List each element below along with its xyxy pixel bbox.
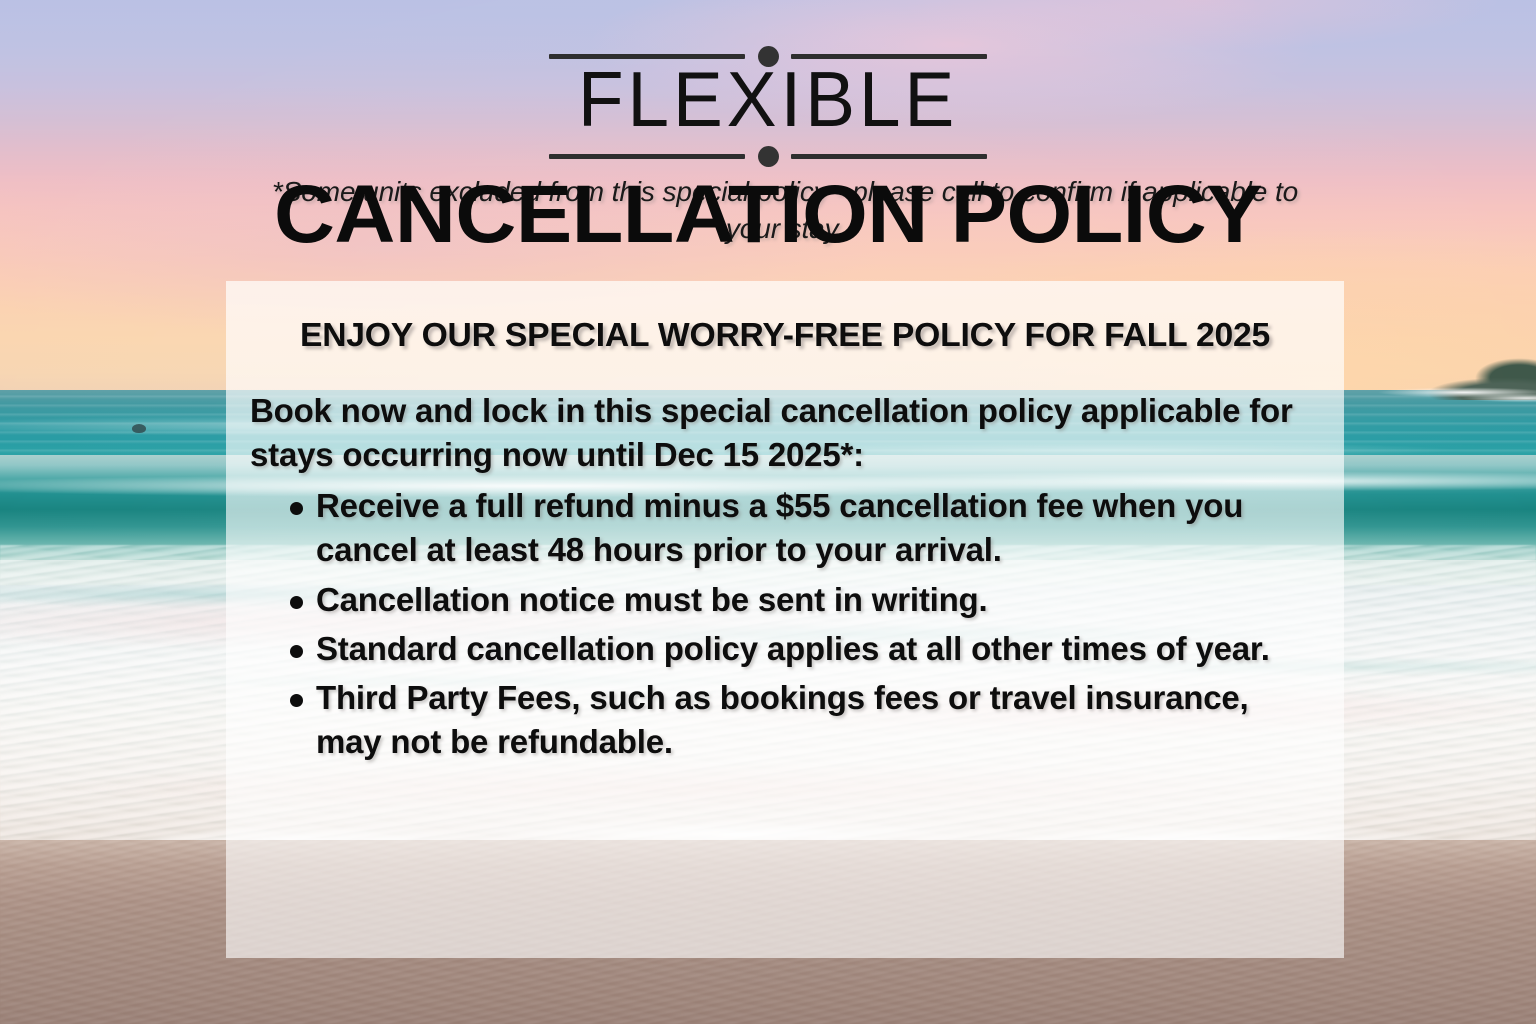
headland-with-trees: [1326, 352, 1536, 400]
divider-line-left: [549, 154, 745, 159]
poster-canvas: FLEXIBLE CANCELLATION POLICY ENJOY OUR S…: [0, 0, 1536, 1024]
surfer-silhouette: [132, 424, 146, 433]
eyebrow-text: FLEXIBLE: [31, 60, 1506, 138]
lead-paragraph: Book now and lock in this special cancel…: [250, 389, 1322, 476]
panel-subtitle: ENJOY OUR SPECIAL WORRY-FREE POLICY FOR …: [215, 316, 1355, 354]
policy-panel: ENJOY OUR SPECIAL WORRY-FREE POLICY FOR …: [226, 281, 1344, 958]
policy-body: Book now and lock in this special cancel…: [250, 389, 1322, 769]
policy-bullet-list: Receive a full refund minus a $55 cancel…: [250, 484, 1322, 764]
list-item: Receive a full refund minus a $55 cancel…: [250, 484, 1322, 572]
page-title: CANCELLATION POLICY: [0, 174, 1536, 256]
divider-line-right: [791, 154, 987, 159]
divider-bottom: [549, 145, 987, 167]
list-item: Cancellation notice must be sent in writ…: [250, 578, 1322, 622]
list-item: Standard cancellation policy applies at …: [250, 627, 1322, 671]
list-item: Third Party Fees, such as bookings fees …: [250, 676, 1322, 764]
divider-dot-icon: [758, 146, 779, 167]
